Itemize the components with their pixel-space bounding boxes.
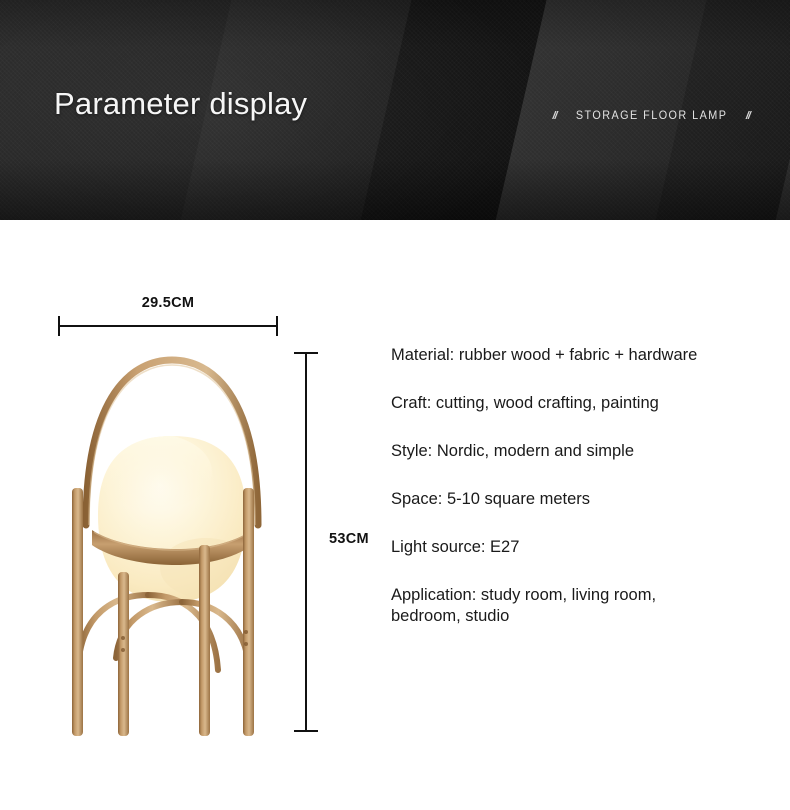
height-dimension-line — [305, 352, 307, 732]
height-dimension-cap-top — [294, 352, 318, 354]
spec-item-craft: Craft: cutting, wood crafting, painting — [391, 393, 783, 414]
page-title: Parameter display — [54, 86, 307, 122]
width-dimension-label: 29.5CM — [58, 295, 278, 311]
header-banner: Parameter display // STORAGE FLOOR LAMP … — [0, 0, 790, 220]
content-area: 29.5CM 53CM — [0, 220, 790, 810]
spec-item-light-source: Light source: E27 — [391, 537, 783, 558]
product-photo-lamp — [56, 340, 288, 740]
lamp-joint-screws — [121, 630, 248, 652]
specification-list: Material: rubber wood + fabric + hardwar… — [391, 345, 783, 627]
spec-item-space: Space: 5-10 square meters — [391, 489, 783, 510]
product-category-label: STORAGE FLOOR LAMP — [575, 110, 727, 122]
spec-item-application: Application: study room, living room, be… — [391, 585, 783, 627]
width-dimension-line — [58, 325, 278, 327]
slash-left-icon: // — [553, 110, 557, 122]
spec-item-material: Material: rubber wood + fabric + hardwar… — [391, 345, 783, 366]
lamp-braces — [78, 595, 248, 670]
width-dimension-cap-right — [276, 316, 278, 336]
banner-tagline: // STORAGE FLOOR LAMP // — [553, 110, 751, 122]
spec-item-style: Style: Nordic, modern and simple — [391, 441, 783, 462]
slash-right-icon: // — [746, 110, 750, 122]
width-dimension-cap-left — [58, 316, 60, 336]
height-dimension-label: 53CM — [329, 531, 369, 547]
height-dimension-cap-bottom — [294, 730, 318, 732]
